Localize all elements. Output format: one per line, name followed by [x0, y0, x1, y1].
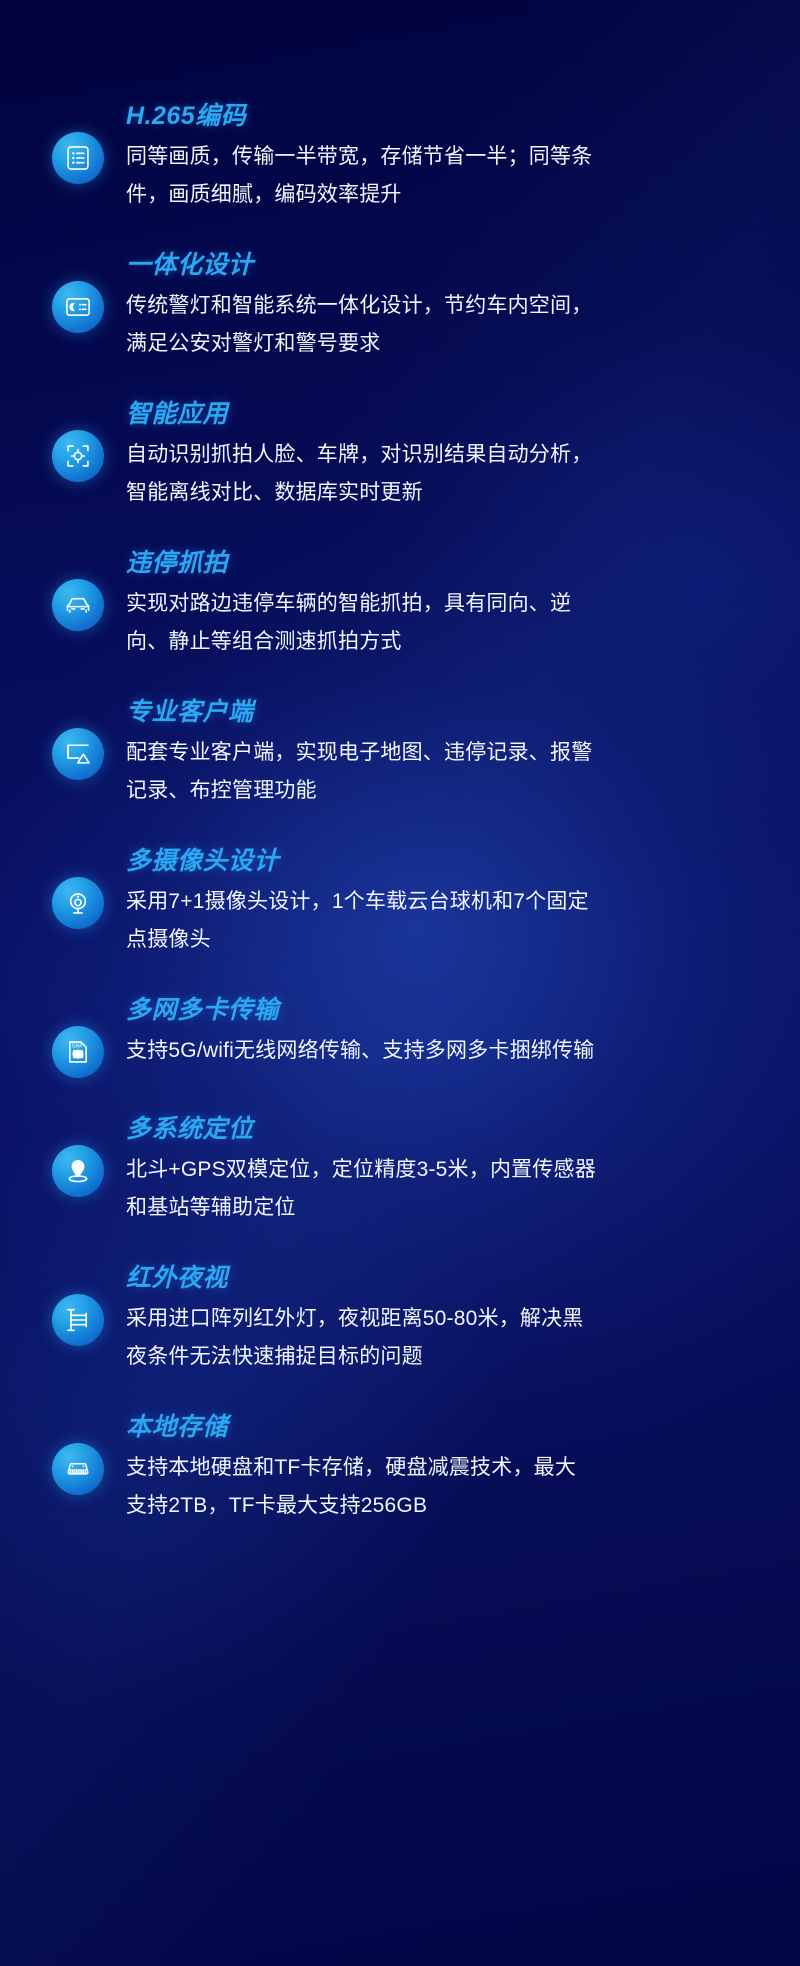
dome-camera-icon	[52, 877, 104, 929]
feature-text: 多网多卡传输 支持5G/wifi无线网络传输、支持多网多卡捆绑传输	[126, 990, 770, 1070]
feature-title: 本地存储	[126, 1409, 770, 1445]
location-pin-icon	[52, 1145, 104, 1197]
feature-item-multi-network[interactable]: SIM 多网多卡传输 支持5G/wifi无线网络传输、支持多网多卡捆绑传输	[0, 990, 800, 1078]
feature-description: 传统警灯和智能系统一体化设计，节约车内空间，满足公安对警灯和警号要求	[126, 287, 596, 363]
feature-description: 采用进口阵列红外灯，夜视距离50-80米，解决黑夜条件无法快速捕捉目标的问题	[126, 1300, 596, 1376]
feature-item-multi-camera[interactable]: 多摄像头设计 采用7+1摄像头设计，1个车载云台球机和7个固定点摄像头	[0, 841, 800, 959]
feature-description: 配套专业客户端，实现电子地图、违停记录、报警记录、布控管理功能	[126, 734, 596, 810]
feature-item-smart-application[interactable]: 智能应用 自动识别抓拍人脸、车牌，对识别结果自动分析，智能离线对比、数据库实时更…	[0, 394, 800, 512]
feature-item-h265[interactable]: H.265编码 同等画质，传输一半带宽，存储节省一半；同等条件，画质细腻，编码效…	[0, 96, 800, 214]
feature-description: 实现对路边违停车辆的智能抓拍，具有同向、逆向、静止等组合测速抓拍方式	[126, 585, 596, 661]
feature-title: 智能应用	[126, 396, 770, 432]
svg-text:SIM: SIM	[72, 1044, 83, 1050]
feature-description: 北斗+GPS双模定位，定位精度3-5米，内置传感器和基站等辅助定位	[126, 1151, 596, 1227]
feature-text: 本地存储 支持本地硬盘和TF卡存储，硬盘减震技术，最大支持2TB，TF卡最大支持…	[126, 1407, 770, 1525]
feature-title: 专业客户端	[126, 694, 770, 730]
feature-description: 同等画质，传输一半带宽，存储节省一半；同等条件，画质细腻，编码效率提升	[126, 138, 596, 214]
document-list-icon	[52, 132, 104, 184]
feature-text: 多摄像头设计 采用7+1摄像头设计，1个车载云台球机和7个固定点摄像头	[126, 841, 770, 959]
smart-focus-target-icon	[52, 430, 104, 482]
feature-title: 一体化设计	[126, 247, 770, 283]
feature-description: 自动识别抓拍人脸、车牌，对识别结果自动分析，智能离线对比、数据库实时更新	[126, 436, 596, 512]
feature-title: H.265编码	[126, 98, 770, 134]
feature-text: 违停抓拍 实现对路边违停车辆的智能抓拍，具有同向、逆向、静止等组合测速抓拍方式	[126, 543, 770, 661]
feature-item-local-storage[interactable]: 本地存储 支持本地硬盘和TF卡存储，硬盘减震技术，最大支持2TB，TF卡最大支持…	[0, 1407, 800, 1525]
car-front-icon	[52, 579, 104, 631]
feature-title: 多系统定位	[126, 1111, 770, 1147]
feature-item-professional-client[interactable]: 专业客户端 配套专业客户端，实现电子地图、违停记录、报警记录、布控管理功能	[0, 692, 800, 810]
feature-title: 多摄像头设计	[126, 843, 770, 879]
feature-description: 支持5G/wifi无线网络传输、支持多网多卡捆绑传输	[126, 1032, 596, 1070]
feature-item-infrared-night-vision[interactable]: 红外夜视 采用进口阵列红外灯，夜视距离50-80米，解决黑夜条件无法快速捕捉目标…	[0, 1258, 800, 1376]
feature-text: 专业客户端 配套专业客户端，实现电子地图、违停记录、报警记录、布控管理功能	[126, 692, 770, 810]
feature-item-multi-positioning[interactable]: 多系统定位 北斗+GPS双模定位，定位精度3-5米，内置传感器和基站等辅助定位	[0, 1109, 800, 1227]
feature-text: 多系统定位 北斗+GPS双模定位，定位精度3-5米，内置传感器和基站等辅助定位	[126, 1109, 770, 1227]
feature-poster: H.265编码 同等画质，传输一半带宽，存储节省一半；同等条件，画质细腻，编码效…	[0, 0, 800, 1966]
feature-list: H.265编码 同等画质，传输一半带宽，存储节省一半；同等条件，画质细腻，编码效…	[0, 0, 800, 1525]
feature-description: 支持本地硬盘和TF卡存储，硬盘减震技术，最大支持2TB，TF卡最大支持256GB	[126, 1449, 596, 1525]
infrared-night-vision-icon	[52, 1294, 104, 1346]
feature-text: 智能应用 自动识别抓拍人脸、车牌，对识别结果自动分析，智能离线对比、数据库实时更…	[126, 394, 770, 512]
sim-card-icon: SIM	[52, 1026, 104, 1078]
feature-description: 采用7+1摄像头设计，1个车载云台球机和7个固定点摄像头	[126, 883, 596, 959]
feature-item-illegal-parking[interactable]: 违停抓拍 实现对路边违停车辆的智能抓拍，具有同向、逆向、静止等组合测速抓拍方式	[0, 543, 800, 661]
feature-title: 多网多卡传输	[126, 992, 770, 1028]
feature-text: 一体化设计 传统警灯和智能系统一体化设计，节约车内空间，满足公安对警灯和警号要求	[126, 245, 770, 363]
feature-title: 红外夜视	[126, 1260, 770, 1296]
hard-disk-storage-icon	[52, 1443, 104, 1495]
feature-text: H.265编码 同等画质，传输一半带宽，存储节省一半；同等条件，画质细腻，编码效…	[126, 96, 770, 214]
feature-item-integrated-design[interactable]: 一体化设计 传统警灯和智能系统一体化设计，节约车内空间，满足公安对警灯和警号要求	[0, 245, 800, 363]
integrated-panel-icon	[52, 281, 104, 333]
monitor-client-icon	[52, 728, 104, 780]
feature-title: 违停抓拍	[126, 545, 770, 581]
feature-text: 红外夜视 采用进口阵列红外灯，夜视距离50-80米，解决黑夜条件无法快速捕捉目标…	[126, 1258, 770, 1376]
